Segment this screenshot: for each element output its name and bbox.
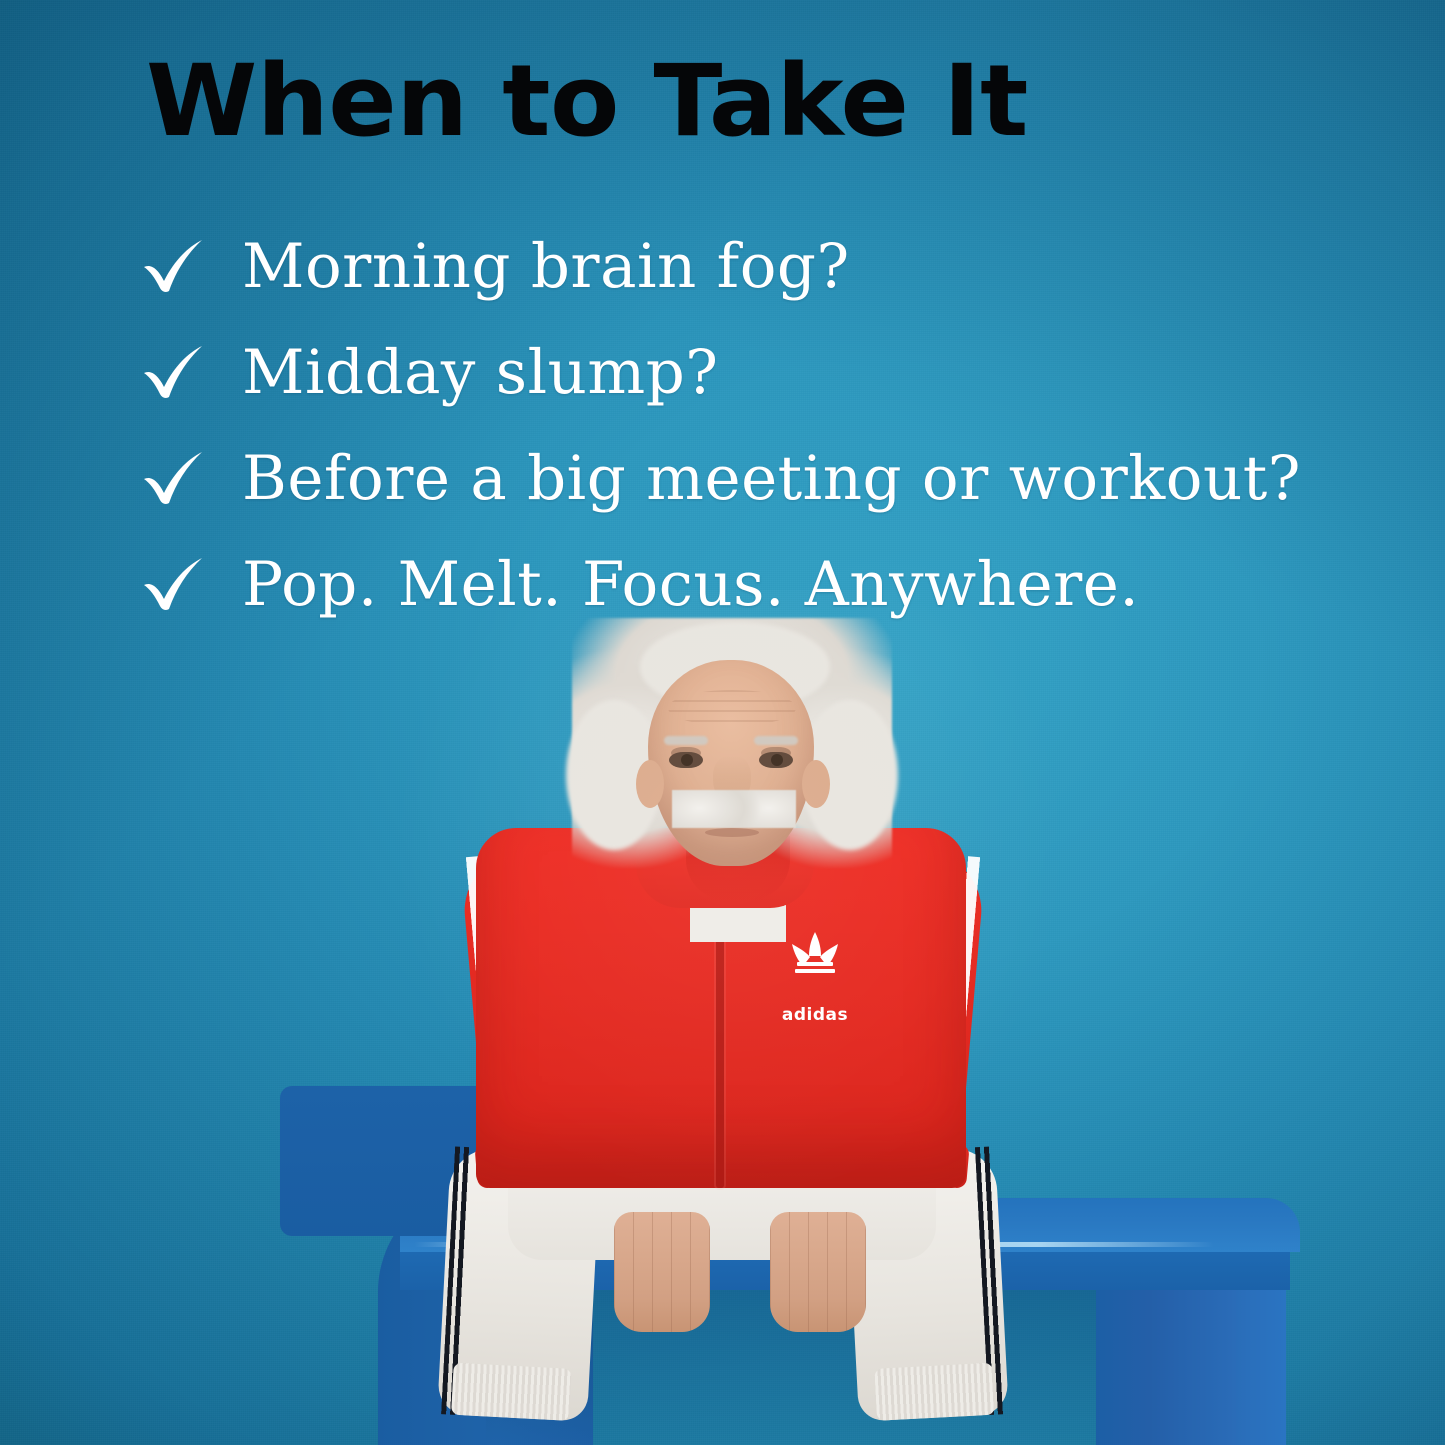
pant-hem-left [451, 1363, 572, 1421]
pant-hem-right [874, 1363, 995, 1421]
adidas-trefoil-logo: adidas [779, 922, 851, 998]
poster-canvas: adidas When to Take It [0, 0, 1445, 1445]
finger-detail-left [614, 1212, 710, 1332]
eye-right [759, 752, 793, 768]
check-icon [130, 555, 242, 613]
list-item: Before a big meeting or workout? [130, 425, 1370, 531]
ear-left [636, 760, 664, 808]
list-item: Midday slump? [130, 319, 1370, 425]
forehead-wrinkles [668, 690, 796, 726]
list-item-label: Morning brain fog? [242, 236, 850, 297]
check-icon [130, 237, 242, 295]
finger-detail-right [770, 1212, 866, 1332]
mustache [672, 790, 796, 828]
eyebrow-right [754, 736, 798, 745]
list-item-label: Pop. Melt. Focus. Anywhere. [242, 554, 1139, 615]
list-item-label: Midday slump? [242, 342, 718, 403]
list-item: Morning brain fog? [130, 213, 1370, 319]
benefits-checklist: Morning brain fog? Midday slump? Before … [130, 213, 1370, 637]
list-item-label: Before a big meeting or workout? [242, 448, 1301, 509]
ear-right [802, 760, 830, 808]
hand-right [770, 1212, 866, 1332]
check-icon [130, 449, 242, 507]
page-title: When to Take It [146, 52, 1028, 151]
eyebrow-left [664, 736, 708, 745]
list-item: Pop. Melt. Focus. Anywhere. [130, 531, 1370, 637]
hand-left [614, 1212, 710, 1332]
mouth [705, 828, 759, 837]
adidas-wordmark: adidas [779, 1005, 851, 1025]
check-icon [130, 343, 242, 401]
eye-left [669, 752, 703, 768]
